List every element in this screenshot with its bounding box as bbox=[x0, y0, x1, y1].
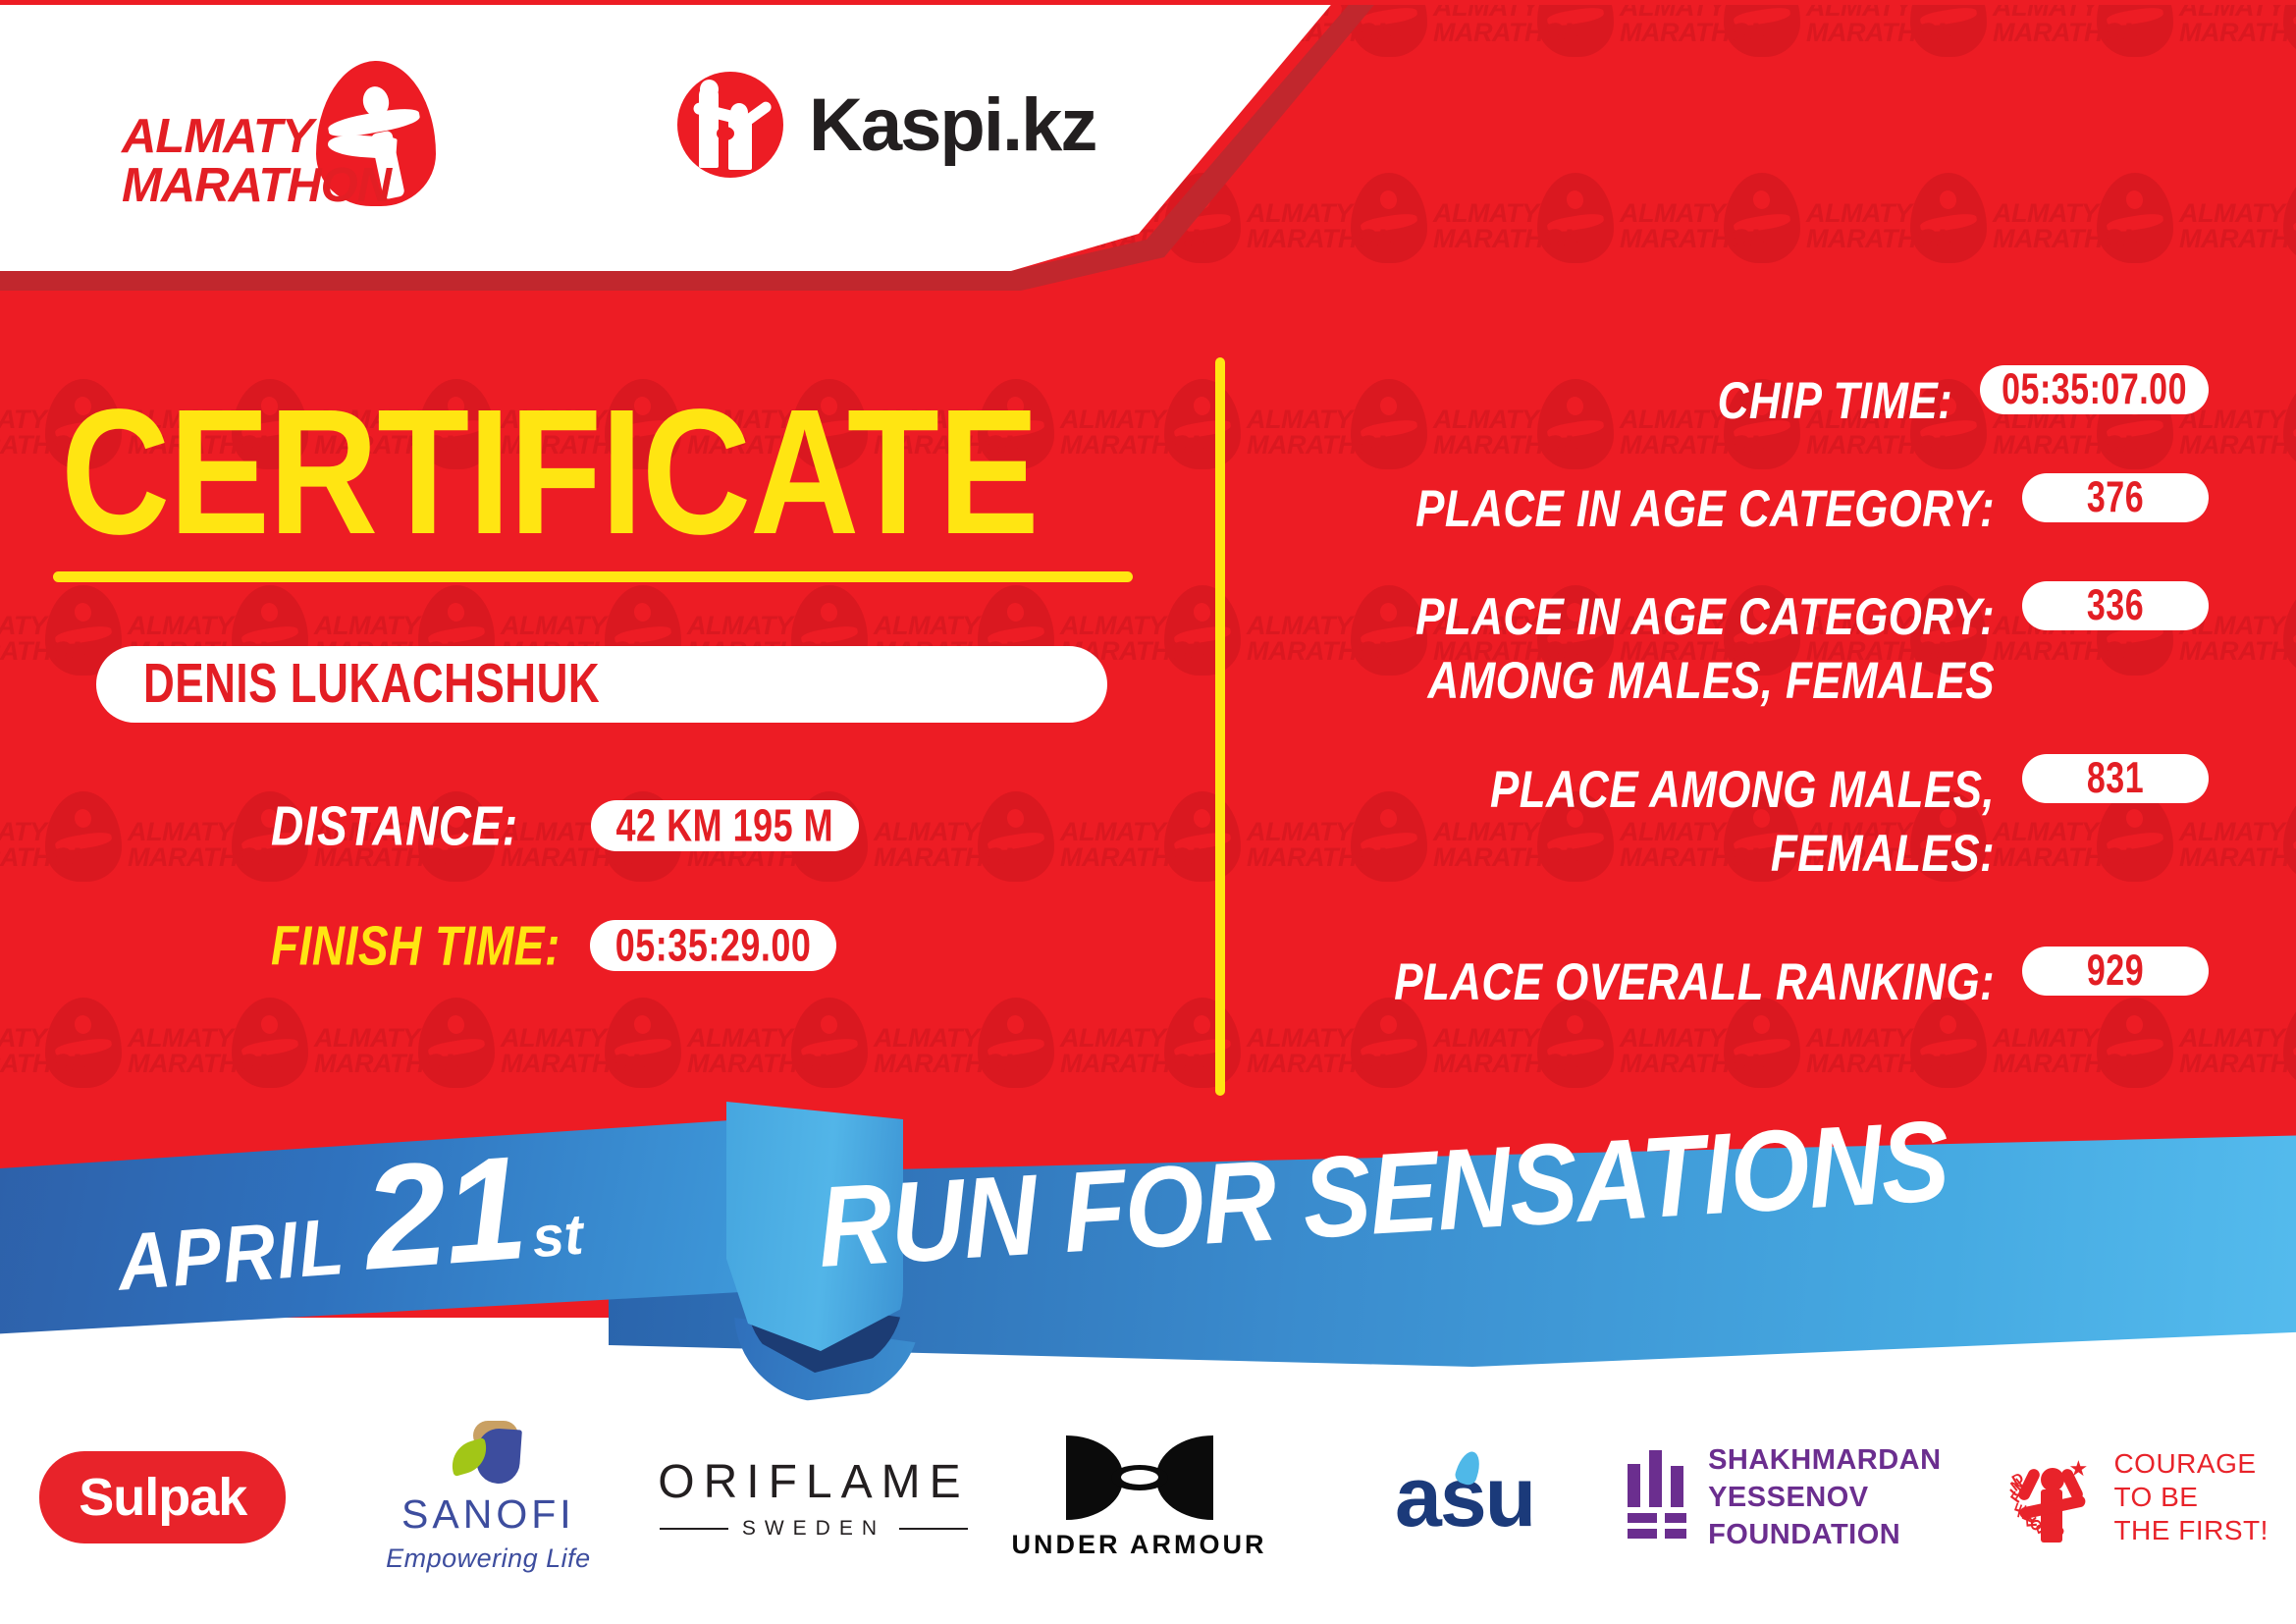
watermark-text: ALMATY MARATHON bbox=[0, 1025, 89, 1076]
distance-row: DISTANCE: 42 KM 195 M bbox=[271, 799, 859, 852]
watermark-droplet-icon bbox=[791, 998, 868, 1088]
watermark-text: ALMATY MARATHON bbox=[2179, 0, 2296, 45]
watermark-droplet-icon bbox=[1724, 173, 1800, 263]
distance-label: DISTANCE: bbox=[271, 793, 518, 858]
result-value-pill: 336 bbox=[2022, 581, 2209, 630]
watermark-text: ALMATY MARATHON bbox=[501, 1025, 649, 1076]
watermark-droplet-icon bbox=[2097, 173, 2173, 263]
under-armour-icon bbox=[1066, 1435, 1213, 1520]
result-label: CHIP TIME: bbox=[1718, 365, 1952, 434]
watermark-droplet-icon bbox=[2283, 0, 2296, 57]
watermark-text: ALMATY MARATHON bbox=[1060, 406, 1208, 458]
finish-time-value-pill: 05:35:29.00 bbox=[590, 920, 837, 971]
watermark-droplet-icon bbox=[45, 998, 122, 1088]
watermark-droplet-icon bbox=[2283, 998, 2296, 1088]
participant-name-field: DENIS LUKACHSHUK bbox=[96, 646, 1107, 723]
watermark-droplet-icon bbox=[978, 791, 1054, 882]
kaspi-people-circle-icon bbox=[677, 72, 783, 178]
watermark-tile: ALMATY MARATHON bbox=[874, 785, 1060, 992]
watermark-tile: ALMATY MARATHON bbox=[1620, 167, 1806, 373]
distance-value-pill: 42 KM 195 M bbox=[591, 800, 860, 851]
participant-name-value: DENIS LUKACHSHUK bbox=[143, 653, 600, 716]
asu-wordmark: asu bbox=[1395, 1455, 1534, 1540]
courage-fund-runner-icon: CORPORATE FUND ★ bbox=[1998, 1446, 2100, 1548]
watermark-droplet-icon bbox=[1164, 998, 1241, 1088]
title-underline bbox=[53, 571, 1133, 582]
sponsor-under-armour: UNDER ARMOUR bbox=[977, 1404, 1303, 1591]
results-list: CHIP TIME:05:35:07.00PLACE IN AGE CATEGO… bbox=[1286, 365, 2209, 1055]
top-accent-line bbox=[0, 0, 2296, 5]
watermark-droplet-icon bbox=[2283, 379, 2296, 469]
watermark-text: ALMATY MARATHON bbox=[1620, 0, 1768, 45]
watermark-text: ALMATY MARATHON bbox=[0, 613, 89, 664]
watermark-droplet-icon bbox=[2283, 791, 2296, 882]
sanofi-leaf-icon bbox=[444, 1421, 532, 1486]
watermark-tile: ALMATY MARATHON bbox=[1993, 167, 2179, 373]
watermark-tile: ALMATY MARATHON bbox=[2179, 0, 2296, 167]
watermark-text: ALMATY MARATHON bbox=[1806, 0, 1954, 45]
result-label: PLACE IN AGE CATEGORY: AMONG MALES, FEMA… bbox=[1415, 581, 1995, 713]
result-value: 929 bbox=[2087, 947, 2144, 997]
watermark-droplet-icon bbox=[978, 998, 1054, 1088]
watermark-droplet-icon bbox=[2283, 173, 2296, 263]
result-value: 376 bbox=[2087, 473, 2144, 523]
watermark-droplet-icon bbox=[2097, 0, 2173, 57]
sanofi-wordmark: SANOFI bbox=[386, 1491, 591, 1538]
result-value: 831 bbox=[2087, 754, 2144, 804]
result-row: PLACE OVERALL RANKING:929 bbox=[1286, 947, 2209, 1009]
watermark-tile: ALMATY MARATHON bbox=[1806, 0, 1993, 167]
watermark-droplet-icon bbox=[1910, 0, 1987, 57]
watermark-text: ALMATY MARATHON bbox=[128, 819, 276, 870]
watermark-tile: ALMATY MARATHON bbox=[1806, 167, 1993, 373]
oriflame-subtitle: SWEDEN bbox=[742, 1517, 885, 1541]
page-title: CERTIFICATE bbox=[61, 385, 1039, 559]
finish-time-row: FINISH TIME: 05:35:29.00 bbox=[271, 919, 836, 972]
certificate-page: ALMATY MARATHONALMATY MARATHONALMATY MAR… bbox=[0, 0, 2296, 1624]
sponsor-sulpak: Sulpak bbox=[0, 1404, 326, 1591]
finish-time-value: 05:35:29.00 bbox=[615, 919, 812, 973]
almaty-marathon-logo: ALMATY MARATHON bbox=[122, 61, 436, 218]
kaspi-wordmark: Kaspi.kz bbox=[809, 82, 1095, 168]
result-value: 336 bbox=[2087, 581, 2144, 631]
event-day: 21 bbox=[360, 1148, 528, 1277]
sponsor-oriflame: ORIFLAME SWEDEN bbox=[651, 1404, 977, 1591]
under-armour-wordmark: UNDER ARMOUR bbox=[1012, 1530, 1267, 1560]
watermark-tile: ALMATY MARATHON bbox=[2179, 167, 2296, 373]
watermark-text: ALMATY MARATHON bbox=[1806, 200, 1954, 251]
watermark-droplet-icon bbox=[605, 998, 681, 1088]
oriflame-wordmark: ORIFLAME bbox=[658, 1455, 969, 1509]
watermark-text: ALMATY MARATHON bbox=[314, 1025, 462, 1076]
watermark-droplet-icon bbox=[1724, 0, 1800, 57]
watermark-text: ALMATY MARATHON bbox=[874, 819, 1022, 870]
sponsor-strip: Sulpak SANOFI Empowering Life ORIFLAME S… bbox=[0, 1404, 2296, 1591]
yessenov-bars-icon bbox=[1628, 1450, 1682, 1544]
watermark-text: ALMATY MARATHON bbox=[0, 819, 89, 870]
sponsor-sanofi: SANOFI Empowering Life bbox=[326, 1404, 652, 1591]
result-label: PLACE IN AGE CATEGORY: bbox=[1415, 473, 1995, 542]
finish-time-label: FINISH TIME: bbox=[271, 913, 561, 978]
courage-fund-wordmark: COURAGE TO BE THE FIRST! bbox=[2113, 1447, 2268, 1547]
event-day-ordinal: st bbox=[530, 1202, 585, 1272]
watermark-tile: ALMATY MARATHON bbox=[0, 785, 128, 992]
watermark-droplet-icon bbox=[45, 791, 122, 882]
header-band: ALMATY MARATHON Kaspi.kz bbox=[0, 0, 1629, 291]
watermark-text: ALMATY MARATHON bbox=[874, 1025, 1022, 1076]
watermark-droplet-icon bbox=[1164, 585, 1241, 676]
watermark-droplet-icon bbox=[232, 998, 308, 1088]
almaty-marathon-wordmark: ALMATY MARATHON bbox=[122, 112, 391, 210]
watermark-text: ALMATY MARATHON bbox=[1993, 200, 2141, 251]
result-row: PLACE AMONG MALES, FEMALES:831 bbox=[1286, 754, 2209, 901]
result-row: CHIP TIME:05:35:07.00 bbox=[1286, 365, 2209, 428]
distance-value: 42 KM 195 M bbox=[616, 799, 834, 853]
event-month: APRIL bbox=[115, 1200, 348, 1308]
result-value-pill: 831 bbox=[2022, 754, 2209, 803]
result-value-pill: 929 bbox=[2022, 947, 2209, 996]
watermark-droplet-icon bbox=[418, 998, 495, 1088]
watermark-droplet-icon bbox=[1910, 173, 1987, 263]
result-label: PLACE AMONG MALES, FEMALES: bbox=[1490, 754, 1995, 886]
watermark-text: ALMATY MARATHON bbox=[1060, 819, 1208, 870]
result-value-pill: 05:35:07.00 bbox=[1980, 365, 2209, 414]
watermark-text: ALMATY MARATHON bbox=[1060, 1025, 1208, 1076]
result-value: 05:35:07.00 bbox=[2002, 365, 2187, 415]
watermark-droplet-icon bbox=[1164, 791, 1241, 882]
watermark-text: ALMATY MARATHON bbox=[128, 1025, 276, 1076]
sponsor-courage-fund: CORPORATE FUND ★ COURAGE TO BE THE FIRST… bbox=[1970, 1404, 2296, 1591]
watermark-droplet-icon bbox=[2283, 585, 2296, 676]
watermark-text: ALMATY MARATHON bbox=[687, 1025, 835, 1076]
event-ribbon: APRIL 21 st RUN FOR SENSATIONS bbox=[0, 1080, 2296, 1434]
result-row: PLACE IN AGE CATEGORY: AMONG MALES, FEMA… bbox=[1286, 581, 2209, 709]
result-row: PLACE IN AGE CATEGORY:376 bbox=[1286, 473, 2209, 536]
sulpak-wordmark: Sulpak bbox=[39, 1451, 286, 1543]
oriflame-rule-right bbox=[899, 1528, 968, 1530]
result-label: PLACE OVERALL RANKING: bbox=[1394, 947, 1995, 1015]
sponsor-asu: asu bbox=[1302, 1404, 1628, 1591]
result-value-pill: 376 bbox=[2022, 473, 2209, 522]
watermark-text: ALMATY MARATHON bbox=[1993, 0, 2141, 45]
watermark-text: ALMATY MARATHON bbox=[1620, 200, 1768, 251]
oriflame-rule-left bbox=[660, 1528, 728, 1530]
watermark-tile: ALMATY MARATHON bbox=[1993, 0, 2179, 167]
yessenov-wordmark: SHAKHMARDAN YESSENOV FOUNDATION bbox=[1708, 1441, 1970, 1553]
sponsor-yessenov-foundation: SHAKHMARDAN YESSENOV FOUNDATION bbox=[1628, 1404, 1971, 1591]
watermark-droplet-icon bbox=[1164, 379, 1241, 469]
sanofi-tagline: Empowering Life bbox=[386, 1543, 591, 1574]
watermark-tile: ALMATY MARATHON bbox=[1620, 0, 1806, 167]
kaspi-logo: Kaspi.kz bbox=[677, 71, 1095, 179]
vertical-divider bbox=[1215, 357, 1225, 1096]
watermark-text: ALMATY MARATHON bbox=[2179, 200, 2296, 251]
